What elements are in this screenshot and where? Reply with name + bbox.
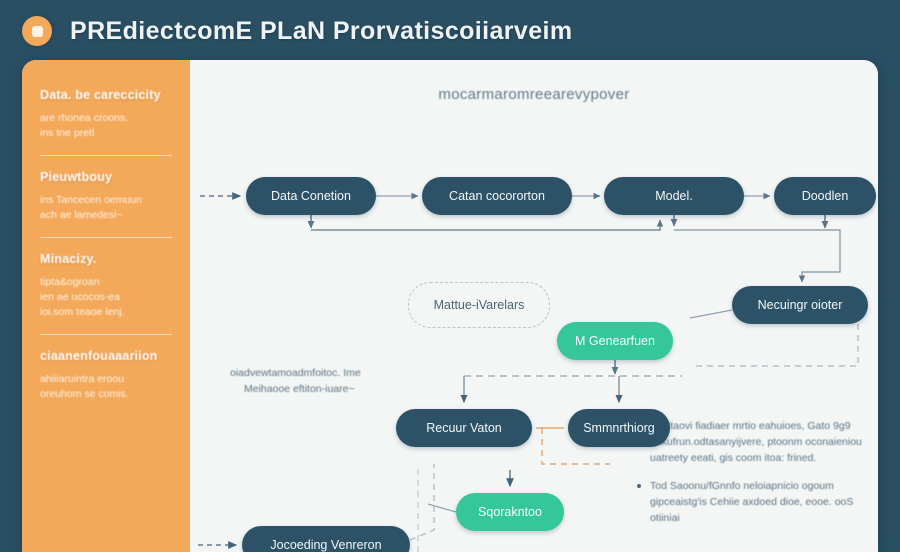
sidebar-divider — [40, 334, 172, 335]
page-title: PREdiectcomE PLaN Prorvatiscoiiarveim — [70, 17, 573, 46]
sidebar-divider — [40, 155, 172, 156]
window-titlebar: PREdiectcomE PLaN Prorvatiscoiiarveim — [0, 0, 900, 62]
sidebar-section-line: ach ae lamedesi~ — [40, 208, 172, 223]
flow-node-n3[interactable]: Model. — [604, 177, 744, 215]
flow-node-n10[interactable]: Sqorakntoo — [456, 493, 564, 531]
slide-card: Data. be careccicityare rhonea croons.in… — [22, 60, 878, 552]
sidebar-section-heading: Data. be careccicity — [40, 88, 172, 102]
logo-inner-square — [32, 26, 43, 37]
flow-node-n8[interactable]: Recuur Vaton — [396, 409, 532, 447]
sidebar-section-line: ien ae ucocos-ea — [40, 290, 172, 305]
flow-node-n6[interactable]: Necuingr oioter — [732, 286, 868, 324]
orange-circle-logo-icon — [22, 16, 52, 46]
flow-node-n4[interactable]: Doodlen — [774, 177, 876, 215]
sidebar-section[interactable]: Data. be careccicityare rhonea croons.in… — [22, 88, 190, 141]
mid-annotation-line-1: oiadvewtamoadmfoitoc. Ime — [230, 365, 435, 381]
note-bullet-item: Uv. ltaovi fiadiaer mrtio eahuioes, Gato… — [637, 418, 869, 466]
sidebar-section[interactable]: ciaanenfouaaariionahiiiaruintra eroouore… — [22, 349, 190, 402]
sidebar-section-heading: Minacizy. — [40, 252, 172, 266]
mid-annotation: oiadvewtamoadmfoitoc. Ime Meihaooe eftit… — [230, 365, 435, 397]
note-bullet-text: Tod Saoonu/fGnnfo neloiapnicio ogoum gip… — [650, 478, 869, 526]
sidebar-section-line: oreuhom se comis. — [40, 387, 172, 402]
note-bullet-text: Uv. ltaovi fiadiaer mrtio eahuioes, Gato… — [650, 418, 869, 466]
notes-panel: Uv. ltaovi fiadiaer mrtio eahuioes, Gato… — [637, 418, 869, 538]
sidebar-section-line: ahiiiaruintra eroou — [40, 372, 172, 387]
sidebar-section-heading: ciaanenfouaaariion — [40, 349, 172, 363]
sidebar-section-heading: Pieuwtbouy — [40, 170, 172, 184]
sidebar: Data. be careccicityare rhonea croons.in… — [22, 60, 190, 552]
flow-node-n9[interactable]: Smmnrthiorg — [568, 409, 670, 447]
sidebar-section[interactable]: Minacizy.tipta&ogroanien ae ucocos-eaioi… — [22, 252, 190, 320]
note-bullet-item: Tod Saoonu/fGnnfo neloiapnicio ogoum gip… — [637, 478, 869, 526]
flow-diagram: mocarmaromreearevypover — [190, 60, 878, 552]
flow-node-n7[interactable]: M Genearfuen — [557, 322, 673, 360]
flow-node-n1[interactable]: Data Conetion — [246, 177, 376, 215]
flow-node-n2[interactable]: Catan cocororton — [422, 177, 572, 215]
sidebar-section-line: are rhonea croons. — [40, 111, 172, 126]
sidebar-section-line: ins Tancecen oemuun — [40, 193, 172, 208]
mid-annotation-line-2: Meihaooe eftiton-iuare~ — [230, 381, 435, 397]
sidebar-section-line: ioi.som teaoe lenj. — [40, 305, 172, 320]
sidebar-section-line: tipta&ogroan — [40, 275, 172, 290]
bullet-dot-icon — [637, 484, 641, 488]
sidebar-section-line: ins tne pretl — [40, 126, 172, 141]
sidebar-section[interactable]: Pieuwtbouyins Tancecen oemuunach ae lame… — [22, 170, 190, 223]
flow-node-n11[interactable]: Jocoeding Venreron — [242, 526, 410, 552]
flow-node-n5[interactable]: Mattue-iVarelars — [408, 282, 550, 328]
sidebar-divider — [40, 237, 172, 238]
